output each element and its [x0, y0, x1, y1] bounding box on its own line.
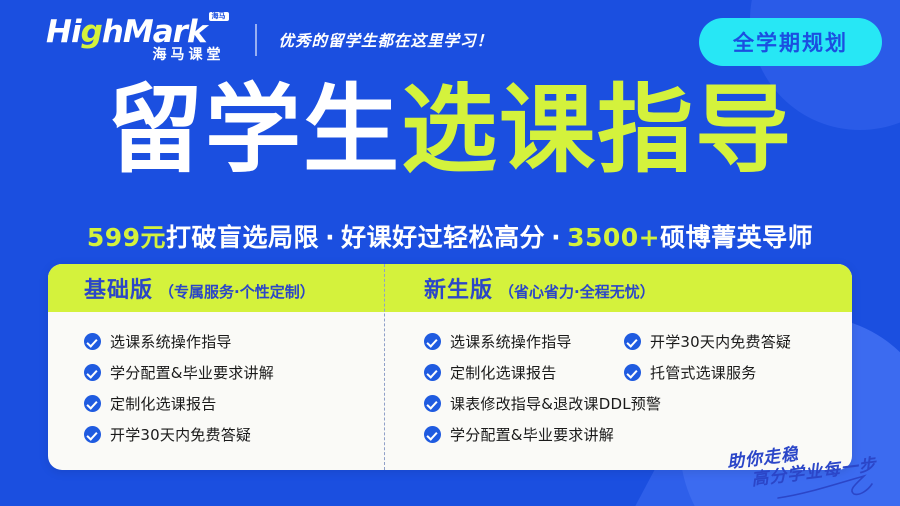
- logo-wordmark: HighMark海马: [46, 17, 229, 48]
- feature-label: 选课系统操作指导: [450, 331, 572, 352]
- logo-wordmark-pre: Hi: [46, 14, 81, 50]
- brand-logo[interactable]: HighMark海马 海马课堂: [46, 17, 229, 64]
- hero-headline: 留学生选课指导: [0, 82, 900, 178]
- check-icon: [424, 333, 441, 350]
- feature-label: 开学30天内免费答疑: [650, 331, 791, 352]
- feature-label: 托管式选课服务: [650, 362, 756, 383]
- subheadline-mentor-count: 3500+: [567, 223, 660, 252]
- header-divider: [255, 24, 257, 56]
- check-icon: [84, 364, 101, 381]
- feature-label: 选课系统操作指导: [110, 331, 232, 352]
- feature-label: 定制化选课报告: [110, 393, 216, 414]
- feature-label: 学分配置&毕业要求讲解: [110, 362, 274, 383]
- logo-badge: 海马: [209, 12, 229, 21]
- list-item: 托管式选课服务: [624, 357, 756, 388]
- plans-header-band: 基础版 （专属服务·个性定制） 新生版 （省心省力·全程无忧）: [48, 264, 852, 312]
- plan-basic-note: （专属服务·个性定制）: [159, 281, 315, 302]
- feature-row: 定制化选课报告 托管式选课服务: [424, 357, 852, 388]
- check-icon: [424, 426, 441, 443]
- list-item: 定制化选课报告: [424, 357, 624, 388]
- subheadline-part3: 硕博菁英导师: [660, 223, 813, 252]
- header-tagline: 优秀的留学生都在这里学习！: [279, 29, 494, 51]
- check-icon: [84, 395, 101, 412]
- headline-white-part: 留学生: [107, 74, 401, 186]
- feature-label: 学分配置&毕业要求讲解: [450, 424, 614, 445]
- slogan-swoosh-icon: [776, 474, 886, 500]
- feature-row: 选课系统操作指导 开学30天内免费答疑: [424, 326, 852, 357]
- plan-header-basic: 基础版 （专属服务·个性定制）: [48, 272, 384, 304]
- plan-freshman-title: 新生版: [424, 272, 493, 304]
- check-icon: [424, 364, 441, 381]
- subheadline-separator-1: ·: [319, 223, 341, 252]
- list-item: 定制化选课报告: [84, 388, 384, 419]
- list-item: 学分配置&毕业要求讲解: [84, 357, 384, 388]
- check-icon: [84, 333, 101, 350]
- check-icon: [624, 364, 641, 381]
- plan-column-divider: [384, 264, 385, 470]
- list-item: 选课系统操作指导: [424, 326, 624, 357]
- plans-body: 选课系统操作指导 学分配置&毕业要求讲解 定制化选课报告 开学30天内免费答疑 …: [48, 312, 852, 470]
- logo-wordmark-accent: g: [81, 14, 102, 50]
- list-item: 选课系统操作指导: [84, 326, 384, 357]
- feature-label: 课表修改指导&退改课DDL预警: [450, 393, 661, 414]
- headline-lime-part: 选课指导: [401, 74, 793, 186]
- logo-wordmark-post: hMark: [102, 14, 207, 50]
- plan-header-freshman: 新生版 （省心省力·全程无忧）: [384, 272, 852, 304]
- plan-freshman-note: （省心省力·全程无忧）: [499, 281, 655, 302]
- subheadline-separator-2: ·: [545, 223, 567, 252]
- check-icon: [424, 395, 441, 412]
- subheadline-part1: 打破盲选局限: [166, 223, 319, 252]
- banner-header: HighMark海马 海马课堂 优秀的留学生都在这里学习！ 全学期规划: [0, 0, 900, 80]
- subheadline-price: 599元: [87, 223, 166, 252]
- plan-basic-title: 基础版: [84, 272, 153, 304]
- list-item: 开学30天内免费答疑: [84, 419, 384, 450]
- subheadline-part2: 好课好过轻松高分: [341, 223, 545, 252]
- feature-label: 定制化选课报告: [450, 362, 556, 383]
- list-item: 开学30天内免费答疑: [624, 326, 791, 357]
- hero-subheadline: 599元打破盲选局限·好课好过轻松高分·3500+硕博菁英导师: [0, 218, 900, 254]
- check-icon: [624, 333, 641, 350]
- semester-plan-badge[interactable]: 全学期规划: [699, 18, 882, 66]
- plan-basic-features: 选课系统操作指导 学分配置&毕业要求讲解 定制化选课报告 开学30天内免费答疑: [48, 312, 384, 470]
- check-icon: [84, 426, 101, 443]
- plans-card: 基础版 （专属服务·个性定制） 新生版 （省心省力·全程无忧） 选课系统操作指导…: [48, 264, 852, 470]
- list-item: 课表修改指导&退改课DDL预警: [424, 388, 852, 419]
- feature-label: 开学30天内免费答疑: [110, 424, 251, 445]
